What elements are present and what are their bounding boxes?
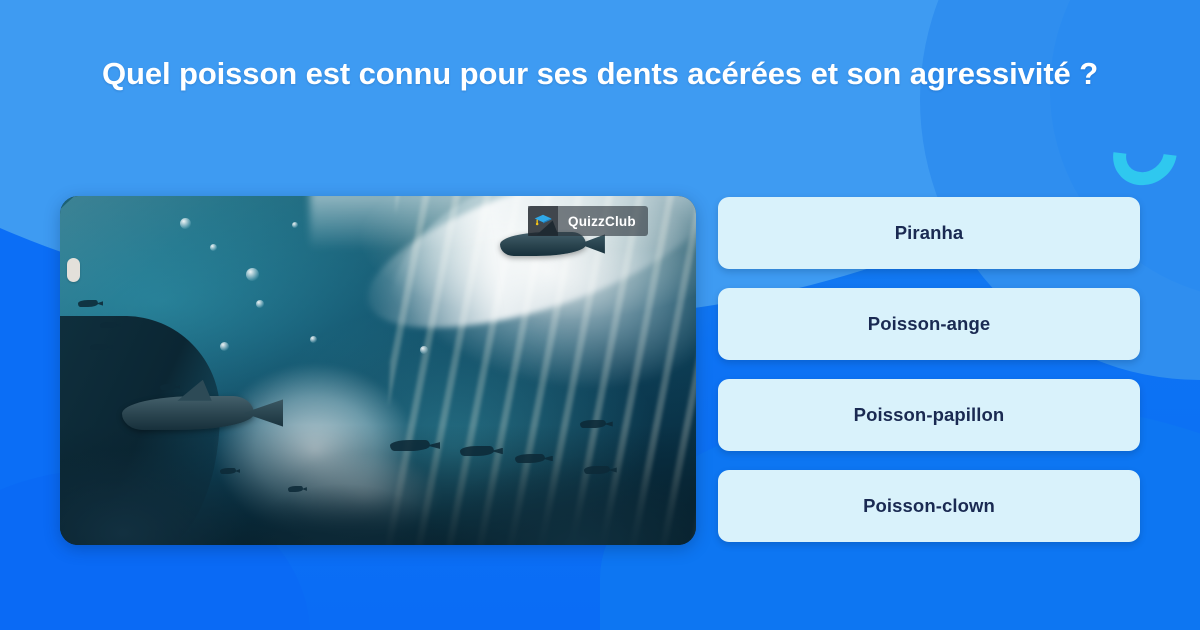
fish-icon xyxy=(515,454,545,463)
fish-icon xyxy=(288,486,303,492)
bubble xyxy=(292,222,298,228)
fish-icon xyxy=(78,300,98,307)
seabed xyxy=(60,425,696,545)
bubble xyxy=(246,268,259,281)
quiz-card: Quel poisson est connu pour ses dents ac… xyxy=(0,0,1200,630)
fish-icon xyxy=(160,384,176,390)
graduation-cap-icon xyxy=(528,206,558,236)
watermark-badge: QuizzClub xyxy=(528,206,648,236)
watermark-label: QuizzClub xyxy=(568,214,636,229)
bubble xyxy=(420,346,428,354)
scroll-thumb[interactable] xyxy=(67,258,80,282)
bubble xyxy=(180,218,191,229)
question-title: Quel poisson est connu pour ses dents ac… xyxy=(50,48,1150,99)
bubble xyxy=(256,300,264,308)
answer-option-4[interactable]: Poisson-clown xyxy=(718,470,1140,542)
answer-list: Piranha Poisson-ange Poisson-papillon Po… xyxy=(718,197,1140,542)
fish-icon xyxy=(220,468,236,474)
fish-icon xyxy=(390,440,430,451)
question-image: QuizzClub xyxy=(60,196,696,545)
bubble xyxy=(210,244,217,251)
answer-option-1[interactable]: Piranha xyxy=(718,197,1140,269)
fish-icon xyxy=(580,420,606,428)
answer-option-2[interactable]: Poisson-ange xyxy=(718,288,1140,360)
fish-icon xyxy=(100,322,117,328)
bubble xyxy=(310,336,317,343)
fish-icon xyxy=(90,344,108,350)
fish-icon xyxy=(460,446,494,456)
answer-option-3[interactable]: Poisson-papillon xyxy=(718,379,1140,451)
bubble xyxy=(220,342,229,351)
fish-icon xyxy=(584,466,610,474)
